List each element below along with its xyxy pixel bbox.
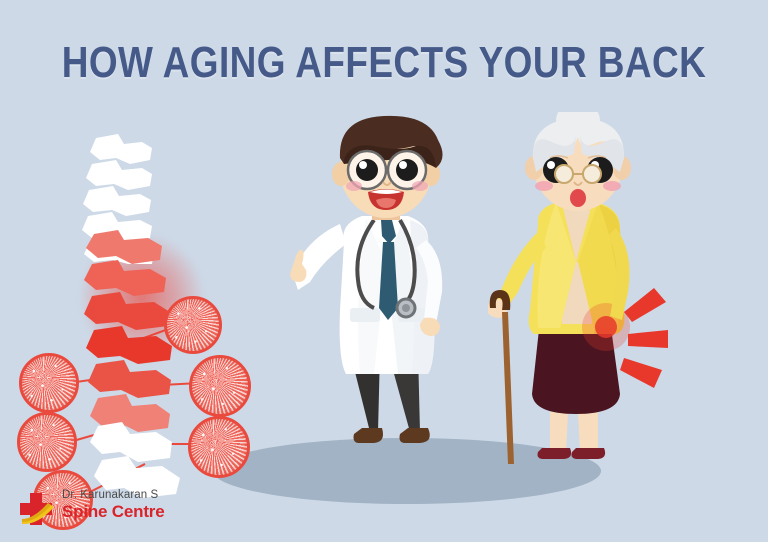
callout-circle-right-middle (189, 355, 251, 417)
woman-blush-left (535, 181, 553, 191)
stethoscope-chestpiece-inner (402, 304, 410, 312)
pain-spot-core (595, 316, 617, 338)
woman-left-leg (550, 412, 568, 452)
doctor-left-shoe (354, 428, 384, 443)
logo-line-2: Spine Centre (62, 502, 164, 521)
callout-circle-right-lower (188, 416, 250, 478)
poster-canvas: HOW AGING AFFECTS YOUR BACK (0, 0, 768, 542)
doctor-eye-left-highlight (359, 161, 367, 169)
woman-right-shoe (572, 448, 606, 459)
cane-shaft (502, 312, 514, 464)
woman-glasses-left-lens (555, 165, 573, 183)
doctor-right-shoe (400, 428, 430, 443)
logo-text: Dr. Karunakaran S Spine Centre (62, 488, 164, 521)
callout-circle-upper-right (164, 296, 222, 354)
elderly-woman-character (488, 112, 688, 464)
doctor-character (288, 112, 478, 462)
doctor-pocket-left (350, 308, 380, 322)
doctor-eye-right-highlight (399, 161, 407, 169)
woman-blush-right (603, 181, 621, 191)
doctor-blush-right (412, 181, 428, 191)
doctor-blush-left (346, 181, 362, 191)
callout-circle-left-lower (17, 412, 77, 472)
pain-ray-upper (624, 288, 666, 322)
woman-mouth (570, 189, 586, 207)
logo-line-1: Dr. Karunakaran S (62, 488, 164, 502)
doctor-eye-right (396, 159, 418, 181)
logo-cross-icon (18, 491, 56, 525)
callout-circle-left-upper (19, 353, 79, 413)
pain-ray-lower (620, 358, 662, 388)
woman-eye-left-highlight (547, 161, 555, 169)
woman-left-shoe (538, 448, 572, 459)
woman-glasses-right-lens (583, 165, 601, 183)
woman-right-leg (578, 412, 598, 452)
pain-ray-middle (628, 330, 668, 348)
logo[interactable]: Dr. Karunakaran S Spine Centre (18, 489, 218, 529)
spine-illustration (0, 120, 260, 410)
doctor-eye-left (356, 159, 378, 181)
page-title: HOW AGING AFFECTS YOUR BACK (61, 38, 706, 88)
